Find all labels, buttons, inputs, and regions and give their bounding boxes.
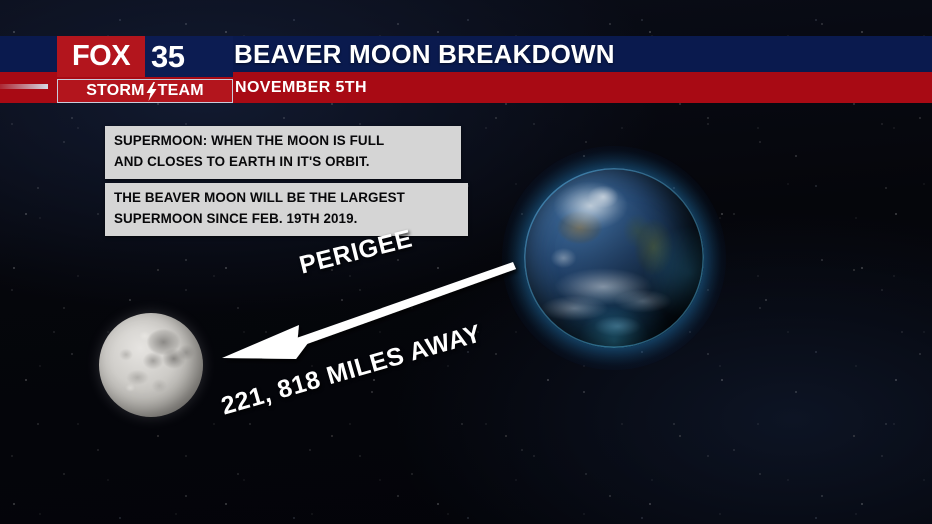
info-line: THE BEAVER MOON WILL BE THE LARGEST	[114, 188, 459, 209]
logo-channel-text: 35	[151, 41, 184, 72]
logo-storm-team-bar: STORM TEAM	[57, 79, 233, 103]
header-accent-line	[0, 84, 48, 89]
info-line: SUPERMOON: WHEN THE MOON IS FULL	[114, 131, 452, 152]
moon-surface	[99, 313, 203, 417]
logo-top-row: FOX 35	[57, 36, 233, 77]
earth-globe	[524, 168, 704, 348]
logo-network-block: FOX	[57, 36, 145, 77]
lightning-bolt-icon	[146, 82, 157, 101]
page-title: BEAVER MOON BREAKDOWN	[234, 38, 615, 71]
info-box-largest-supermoon: THE BEAVER MOON WILL BE THE LARGEST SUPE…	[105, 183, 468, 236]
logo-channel-block: 35	[145, 36, 233, 77]
logo-network-text: FOX	[72, 42, 130, 71]
logo-team-text: TEAM	[158, 83, 204, 99]
info-line: AND CLOSES TO EARTH IN IT'S ORBIT.	[114, 152, 452, 173]
logo-storm-text: STORM	[86, 83, 144, 99]
earth-limb-highlight	[524, 168, 704, 348]
info-box-supermoon-definition: SUPERMOON: WHEN THE MOON IS FULL AND CLO…	[105, 126, 461, 179]
page-subtitle: NOVEMBER 5TH	[235, 74, 367, 101]
full-moon	[99, 313, 203, 417]
fox-35-storm-team-logo: FOX 35 STORM TEAM	[57, 36, 233, 103]
weather-graphic: BEAVER MOON BREAKDOWN NOVEMBER 5TH FOX 3…	[0, 0, 932, 524]
